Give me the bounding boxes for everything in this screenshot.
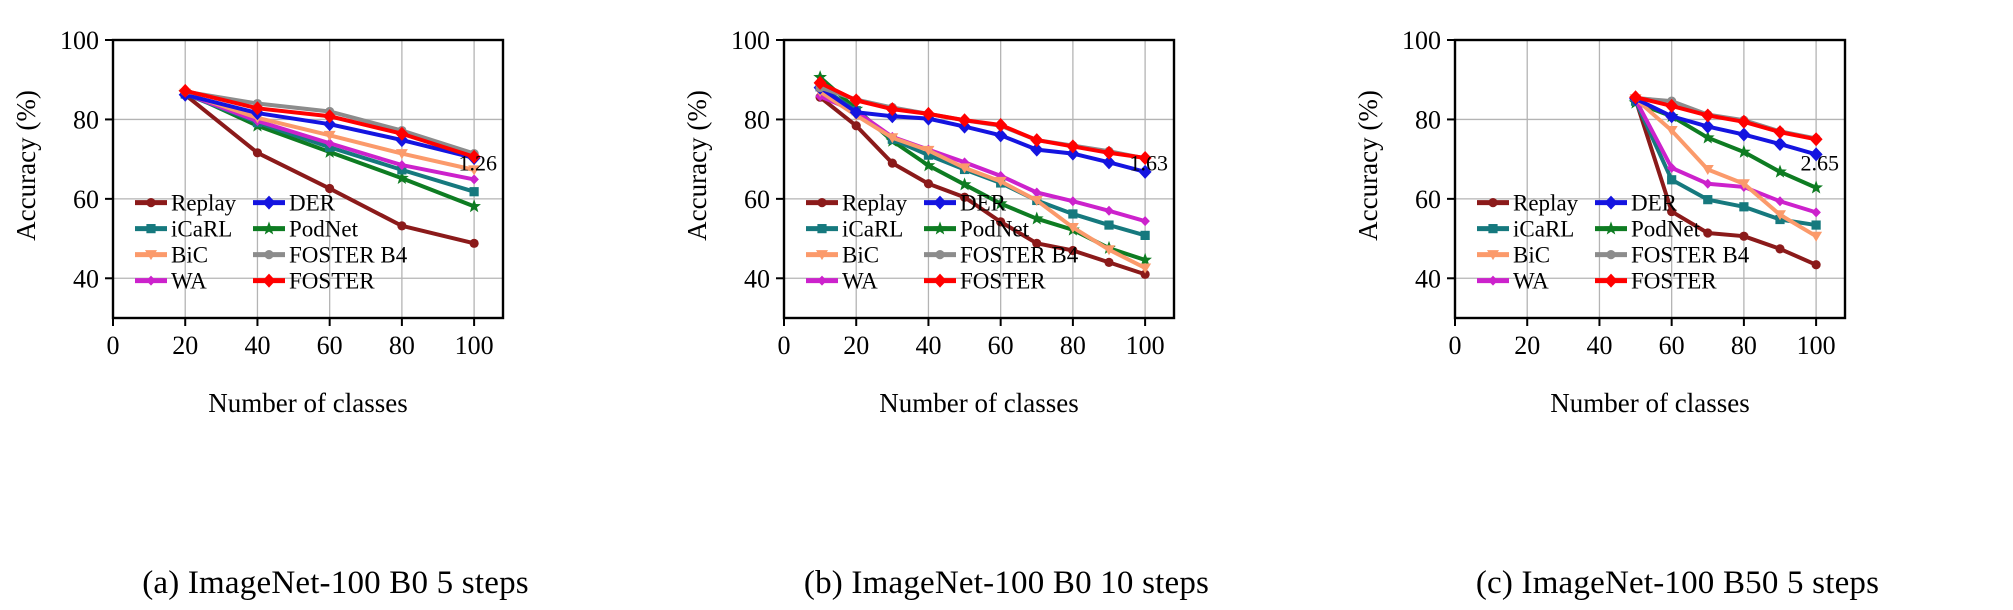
legend-label-der[interactable]: DER [289,191,336,216]
x-tick-label: 80 [1060,331,1086,360]
panel-caption-c: (c) ImageNet-100 B50 5 steps [1342,565,2013,602]
x-tick-label: 60 [317,331,343,360]
x-tick-label: 20 [1514,331,1540,360]
y-tick-label: 100 [1402,26,1441,55]
y-tick-label: 80 [73,105,99,134]
x-tick-label: 80 [1731,331,1757,360]
y-tick-label: 80 [744,105,770,134]
legend-label-foster-b4[interactable]: FOSTER B4 [1631,243,1750,268]
legend-label-der[interactable]: DER [1631,191,1678,216]
x-tick-label: 0 [778,331,791,360]
legend-label-foster[interactable]: FOSTER [289,269,375,294]
legend-label-icarl[interactable]: iCaRL [842,217,903,242]
legend-label-podnet[interactable]: PodNet [1631,217,1701,242]
y-tick-label: 40 [1415,264,1441,293]
legend: ReplayDERiCaRLPodNetBiCFOSTER B4WAFOSTER [806,191,1079,294]
legend-label-der[interactable]: DER [960,191,1007,216]
chart-panel-a: Accuracy (%)4060801000204060801001.26Rep… [0,0,671,610]
x-axis-label: Number of classes [1430,388,1870,419]
y-tick-label: 60 [73,185,99,214]
gap-annotation: 1.63 [1130,151,1169,176]
x-tick-label: 20 [172,331,198,360]
x-tick-label: 0 [107,331,120,360]
y-tick-label: 80 [1415,105,1441,134]
gap-annotation: 1.26 [459,151,498,176]
x-axis-label: Number of classes [88,388,528,419]
panel-caption-b: (b) ImageNet-100 B0 10 steps [671,565,1342,602]
legend-label-bic[interactable]: BiC [171,243,208,268]
legend-label-podnet[interactable]: PodNet [960,217,1030,242]
x-tick-label: 40 [244,331,270,360]
x-axis-label: Number of classes [759,388,1199,419]
x-tick-label: 20 [843,331,869,360]
y-tick-label: 100 [731,26,770,55]
y-tick-label: 40 [73,264,99,293]
y-tick-label: 100 [60,26,99,55]
legend-label-podnet[interactable]: PodNet [289,217,359,242]
legend-label-icarl[interactable]: iCaRL [171,217,232,242]
x-tick-label: 100 [455,331,494,360]
x-tick-label: 40 [1586,331,1612,360]
legend-label-wa[interactable]: WA [171,269,207,294]
legend-label-foster-b4[interactable]: FOSTER B4 [960,243,1079,268]
panel-caption-a: (a) ImageNet-100 B0 5 steps [0,565,671,602]
legend-label-replay[interactable]: Replay [171,191,237,216]
figure-container: Accuracy (%)4060801000204060801001.26Rep… [0,0,2013,610]
x-tick-label: 60 [988,331,1014,360]
legend-label-bic[interactable]: BiC [1513,243,1550,268]
legend-label-foster-b4[interactable]: FOSTER B4 [289,243,408,268]
x-tick-label: 100 [1797,331,1836,360]
legend-label-wa[interactable]: WA [842,269,878,294]
legend-label-wa[interactable]: WA [1513,269,1549,294]
legend-label-foster[interactable]: FOSTER [1631,269,1717,294]
chart-panel-c: Accuracy (%)4060801000204060801002.65Rep… [1342,0,2013,610]
x-tick-label: 100 [1126,331,1165,360]
chart-panel-b: Accuracy (%)4060801000204060801001.63Rep… [671,0,1342,610]
gap-annotation: 2.65 [1801,151,1840,176]
y-tick-label: 60 [744,185,770,214]
legend-label-foster[interactable]: FOSTER [960,269,1046,294]
legend-label-replay[interactable]: Replay [842,191,908,216]
x-tick-label: 60 [1659,331,1685,360]
x-tick-label: 40 [915,331,941,360]
y-tick-label: 60 [1415,185,1441,214]
legend-label-replay[interactable]: Replay [1513,191,1579,216]
legend: ReplayDERiCaRLPodNetBiCFOSTER B4WAFOSTER [1477,191,1750,294]
x-tick-label: 0 [1449,331,1462,360]
legend-label-bic[interactable]: BiC [842,243,879,268]
series-der [814,81,1152,179]
legend-label-icarl[interactable]: iCaRL [1513,217,1574,242]
x-tick-label: 80 [389,331,415,360]
y-tick-label: 40 [744,264,770,293]
